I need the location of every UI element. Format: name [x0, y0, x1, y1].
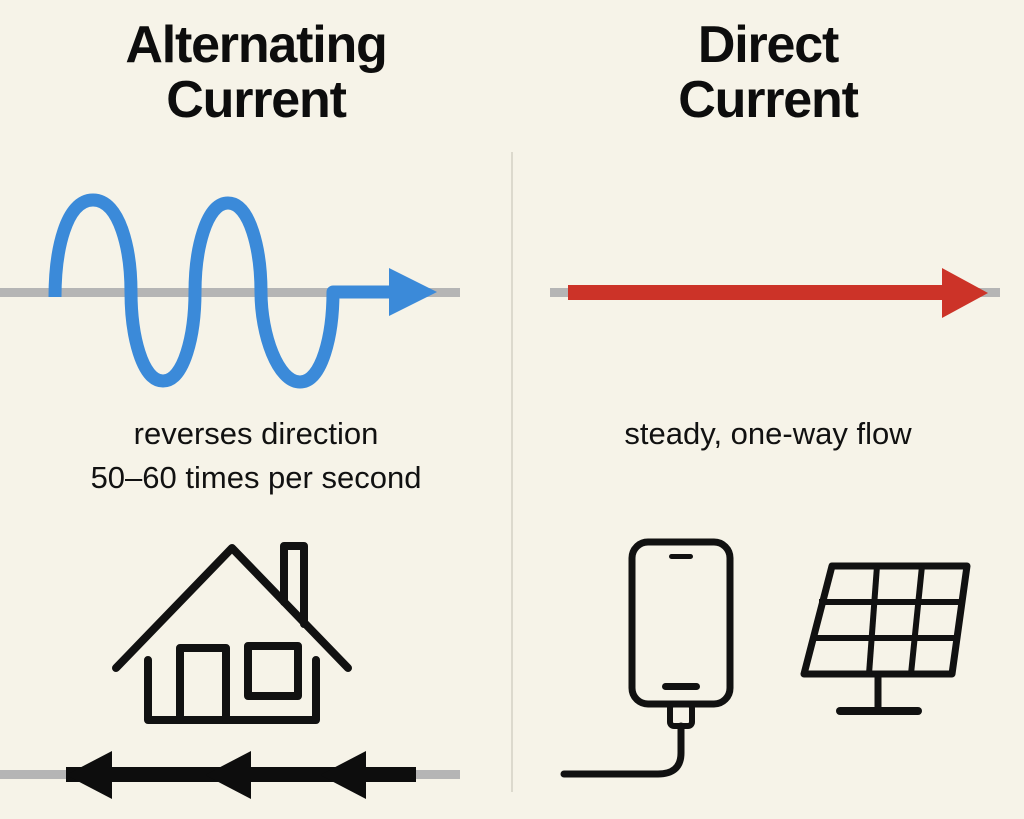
infographic-root: Alternating Current reverses direction 5… — [0, 0, 1024, 819]
solar-panel-divider-v2 — [911, 566, 922, 674]
ac-reverse-flow-arrows — [0, 745, 470, 810]
house-walls — [148, 660, 316, 720]
ac-arrowhead-icon — [389, 268, 437, 316]
ac-flow-arrowhead-icon-1 — [66, 751, 112, 799]
phone-body — [632, 542, 730, 704]
house-door — [180, 648, 226, 720]
house-window — [248, 646, 298, 696]
solar-panel-icon — [792, 556, 992, 726]
phone-speaker-slot — [669, 554, 693, 559]
ac-sine-wave — [0, 170, 470, 415]
house-icon — [108, 530, 356, 735]
phone-charging-cable — [564, 726, 681, 774]
caption-direct-current: steady, one-way flow — [512, 412, 1024, 456]
phone-home-bar — [662, 683, 700, 690]
solar-panel-frame — [804, 566, 967, 674]
house-roof — [116, 548, 348, 668]
solar-panel-divider-v1 — [869, 566, 877, 674]
dc-straight-arrow — [540, 262, 1010, 324]
ac-flow-arrowhead-icon-3 — [320, 751, 366, 799]
caption-alternating-current: reverses direction 50–60 times per secon… — [0, 412, 512, 500]
dc-flow-bar — [568, 285, 958, 300]
page-title-direct-current: Direct Current — [512, 18, 1024, 128]
ac-flow-arrowhead-icon-2 — [205, 751, 251, 799]
dc-arrowhead-icon — [942, 268, 988, 318]
page-title-alternating-current: Alternating Current — [0, 18, 512, 128]
smartphone-charging-icon — [560, 528, 775, 793]
